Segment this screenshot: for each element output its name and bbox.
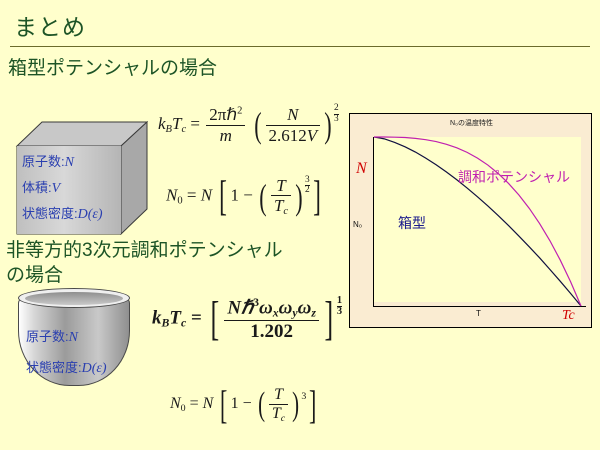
cube-label-volume: 体積:V	[22, 175, 152, 201]
chart-x-max-label: Tc	[562, 308, 575, 324]
equation-n0-harmonic: N0 = N [1 − (TTc)3]	[170, 381, 320, 428]
chart-xlabel: T	[476, 309, 481, 318]
bowl-label-atoms: 原子数:N	[26, 322, 150, 353]
chart-legend-harmonic: 調和ポテンシャル	[458, 167, 570, 187]
cube-label-list: 原子数:N 体積:V 状態密度:D(ε)	[22, 149, 152, 227]
cube-label-dos: 状態密度:D(ε)	[22, 201, 152, 227]
equation-kbtc-harmonic: kBTc = [Nℏ3ωxωyωz1.202]13	[152, 292, 342, 346]
bowl-graphic: 原子数:N 状態密度:D(ε)	[12, 288, 136, 386]
cube-label-atoms: 原子数:N	[22, 149, 152, 175]
cube-graphic: 原子数:N 体積:V 状態密度:D(ε)	[8, 117, 148, 235]
title-divider	[10, 46, 590, 47]
page-title: まとめ	[14, 8, 86, 42]
chart-n0-temperature: N₀の温度特性 N N₀ T Tc 調和ポテンシャル 箱型	[349, 113, 592, 328]
slide: まとめ 箱型ポテンシャルの場合 原子数:N 体積:V 状態密度:D(ε) kB	[0, 0, 600, 450]
chart-ylabel: N₀	[353, 220, 362, 229]
bowl-rim-inner-icon	[25, 292, 123, 305]
chart-y-max-label: N	[356, 160, 367, 178]
equation-kbtc-box: kBTc = 2πℏ2m (N2.612V)23	[158, 104, 339, 146]
chart-legend-boxtype: 箱型	[398, 213, 426, 233]
chart-curves	[350, 114, 593, 329]
section-heading-box: 箱型ポテンシャルの場合	[8, 56, 217, 81]
section-heading-harmonic: 非等方的3次元調和ポテンシャル の場合	[6, 238, 283, 288]
bowl-label-list: 原子数:N 状態密度:D(ε)	[26, 322, 150, 384]
bowl-label-dos: 状態密度:D(ε)	[26, 353, 150, 384]
equation-n0-box: N0 = N [1 − (TTc)32]	[166, 172, 324, 221]
